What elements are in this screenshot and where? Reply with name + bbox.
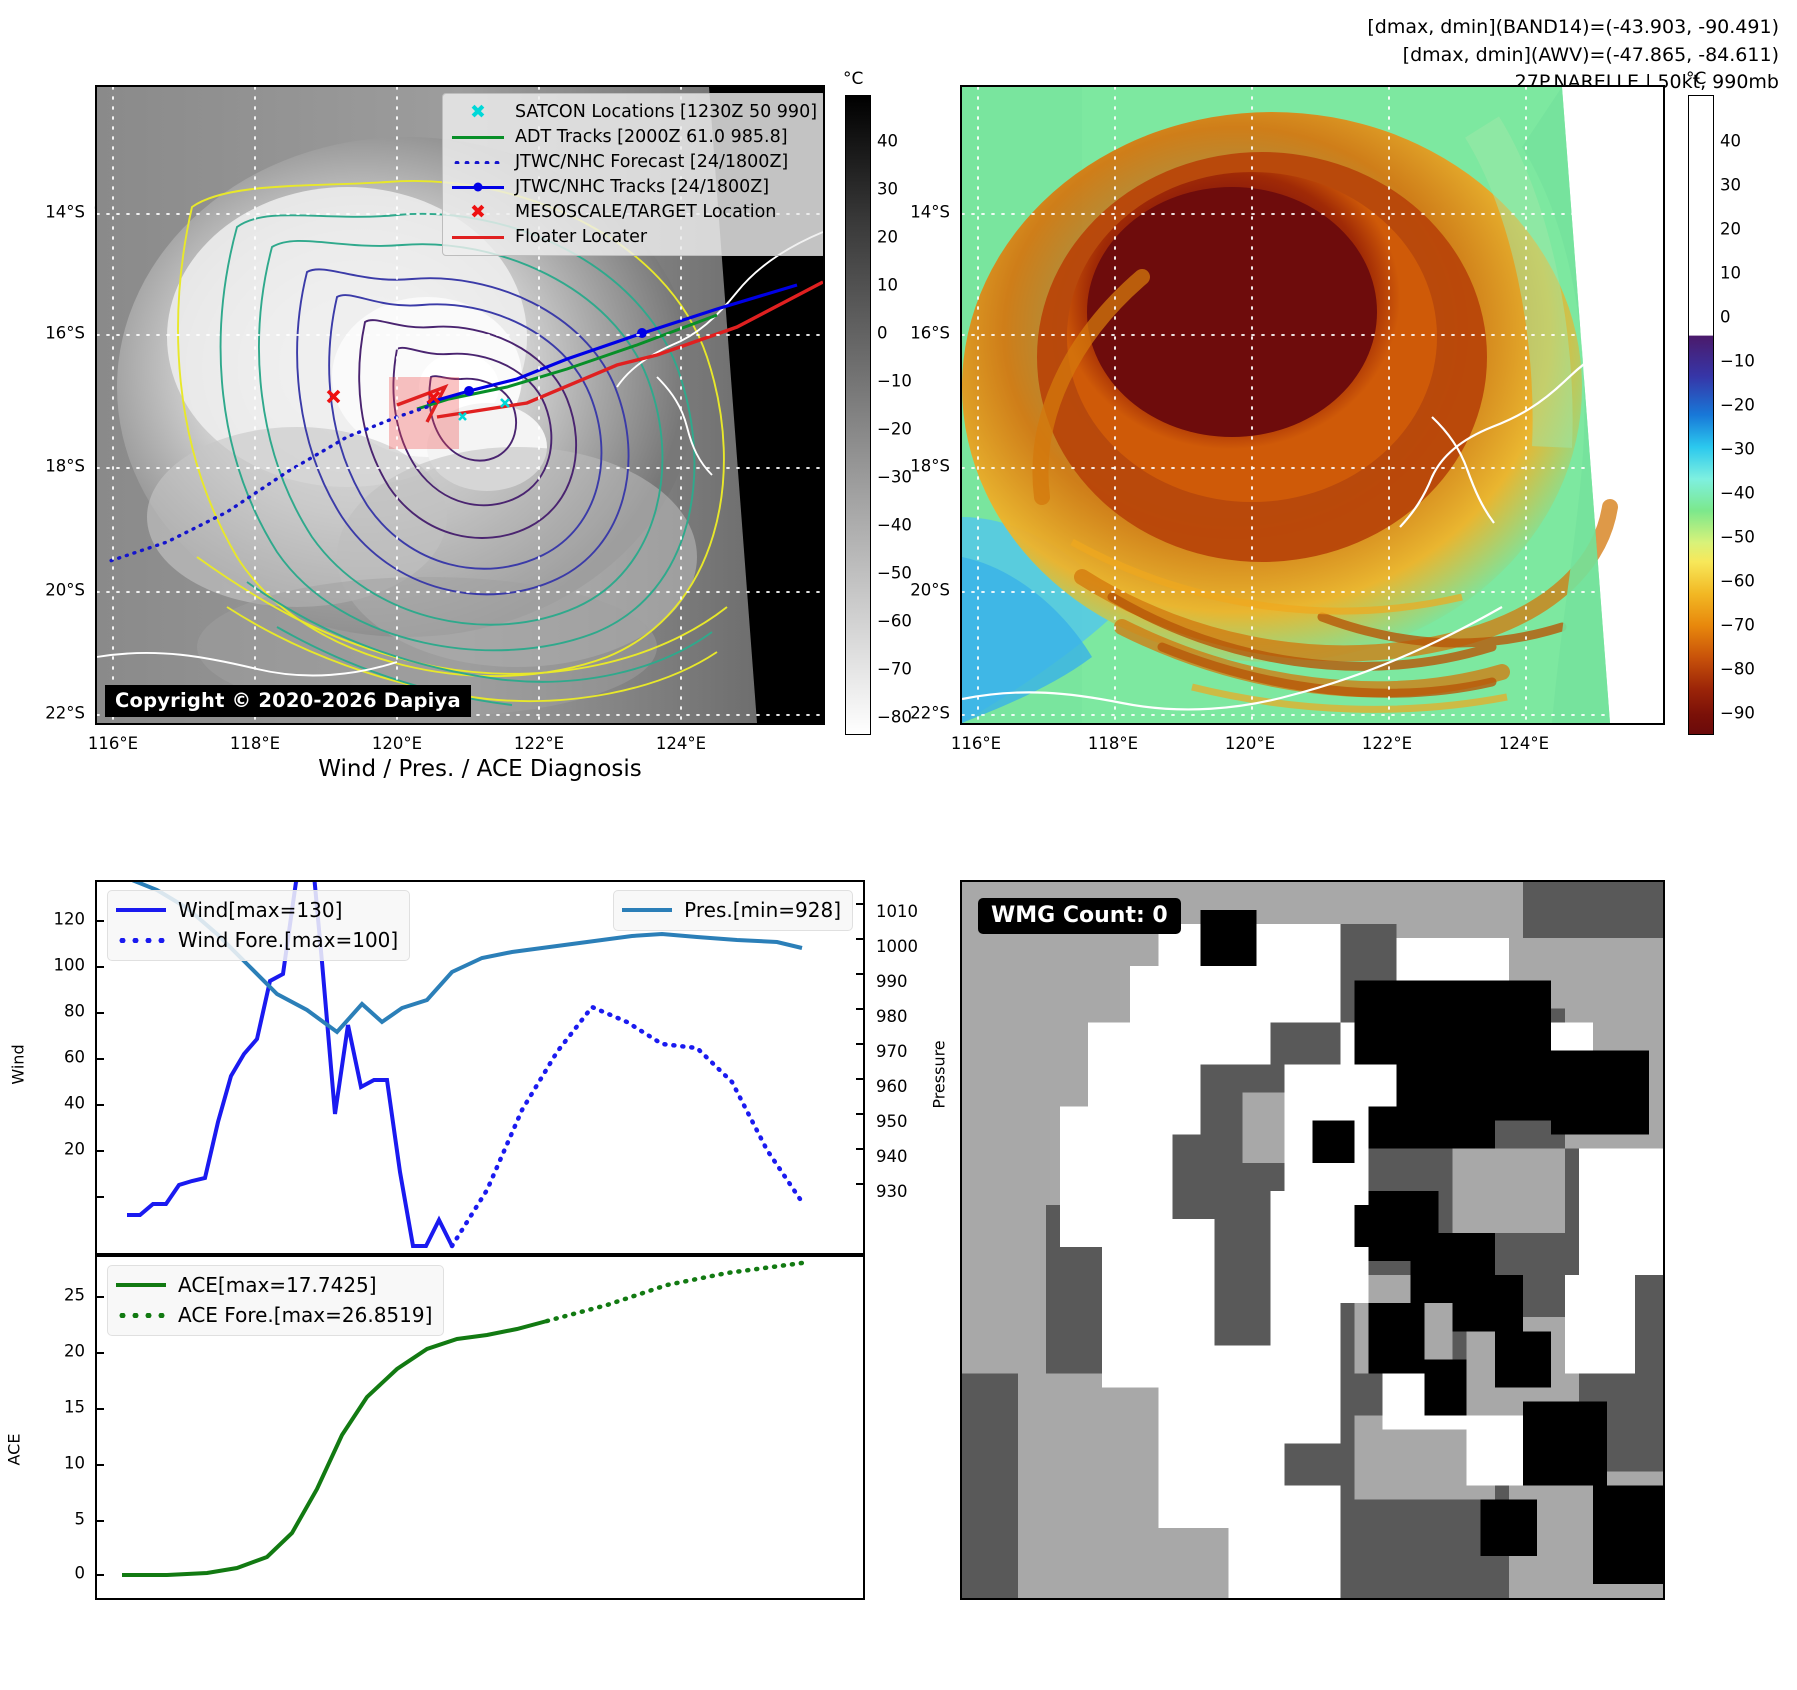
pressure-ytick: 990 — [876, 972, 908, 991]
jtwc-forecast-dotted-icon — [450, 154, 506, 170]
floater-line-icon — [450, 229, 506, 245]
cbar-tick: −10 — [877, 372, 912, 391]
legend-item[interactable]: ACE Fore.[max=26.8519] — [115, 1300, 432, 1330]
awv-lat-tick: 22°S — [875, 704, 950, 723]
awv-lat-tick: 18°S — [875, 457, 950, 476]
cbar-tick: 30 — [1720, 176, 1741, 195]
ace-chart[interactable]: ACE[max=17.7425] ACE Fore.[max=26.8519] — [95, 1255, 865, 1600]
legend-label: SATCON Locations [1230Z 50 990] — [515, 102, 817, 122]
dmax-band14-line: [dmax, dmin](BAND14)=(-43.903, -90.491) — [1367, 14, 1779, 42]
cbar-tick: −20 — [1720, 396, 1755, 415]
wind-ytick: 20 — [15, 1140, 85, 1159]
ace-axis-label: ACE — [4, 1434, 23, 1466]
awv-lat-tick: 20°S — [875, 581, 950, 600]
legend-label: Floater Locater — [515, 227, 647, 247]
pressure-ytick: 940 — [876, 1147, 908, 1166]
cbar-tick: −70 — [1720, 616, 1755, 635]
legend-label: MESOSCALE/TARGET Location — [515, 202, 776, 222]
legend-item[interactable]: JTWC/NHC Forecast [24/1800Z] — [450, 149, 817, 174]
pressure-axis-label: Pressure — [930, 1040, 949, 1108]
cbar-tick: −50 — [1720, 528, 1755, 547]
legend-item[interactable]: Wind Fore.[max=100] — [115, 925, 398, 955]
pressure-ytick: 960 — [876, 1077, 908, 1096]
awv-lat-tick: 16°S — [875, 324, 950, 343]
legend-label: JTWC/NHC Tracks [24/1800Z] — [515, 177, 769, 197]
ir-lat-tick: 14°S — [10, 203, 85, 222]
jtwc-track-line-icon — [450, 179, 506, 195]
awv-lon-tick: 124°E — [1499, 734, 1549, 753]
legend-item[interactable]: JTWC/NHC Tracks [24/1800Z] — [450, 174, 817, 199]
legend-label: Wind Fore.[max=100] — [178, 928, 398, 952]
pressure-ytick: 950 — [876, 1112, 908, 1131]
awv-colorbar[interactable]: °C 40 30 20 10 0 −10 −20 −30 −40 −50 −60… — [1688, 95, 1783, 735]
ir-colorbar-ticks: 40 30 20 10 0 −10 −20 −30 −40 −50 −60 −7… — [877, 95, 937, 735]
ir-lon-tick: 116°E — [88, 734, 138, 753]
ir-lat-tick: 22°S — [10, 704, 85, 723]
ace-line-icon — [115, 1278, 167, 1292]
ir-colorbar[interactable]: °C 40 30 20 10 0 −10 −20 −30 −40 −50 −60… — [845, 95, 935, 735]
ace-ytick: 25 — [15, 1286, 85, 1305]
ace-ytick: 20 — [15, 1342, 85, 1361]
ace-ytick: 10 — [15, 1454, 85, 1473]
legend-label: Pres.[min=928] — [684, 898, 841, 922]
ace-ytick: 5 — [15, 1510, 85, 1529]
pressure-ytick: 980 — [876, 1007, 908, 1026]
wind-forecast-dotted-icon — [115, 933, 167, 947]
cbar-tick: −60 — [1720, 572, 1755, 591]
cbar-tick: −90 — [1720, 704, 1755, 723]
awv-colorbar-gradient — [1688, 95, 1714, 735]
awv-lat-tick: 14°S — [875, 203, 950, 222]
legend-label: Wind[max=130] — [178, 898, 342, 922]
awv-colorbar-ticks: 40 30 20 10 0 −10 −20 −30 −40 −50 −60 −7… — [1720, 95, 1780, 735]
legend-item[interactable]: Pres.[min=928] — [621, 895, 841, 925]
ir-colorbar-gradient — [845, 95, 871, 735]
adt-line-icon — [450, 129, 506, 145]
cbar-tick: −20 — [877, 420, 912, 439]
cbar-tick: 40 — [877, 132, 898, 151]
dmax-awv-line: [dmax, dmin](AWV)=(-47.865, -84.611) — [1367, 42, 1779, 70]
ir-lon-tick: 122°E — [514, 734, 564, 753]
cbar-tick: 0 — [1720, 308, 1731, 327]
ir-colorbar-unit: °C — [843, 69, 863, 89]
ir-lon-tick: 118°E — [230, 734, 280, 753]
ir-satellite-panel[interactable]: ✖ SATCON Locations [1230Z 50 990] ADT Tr… — [95, 85, 825, 725]
cbar-tick: −60 — [877, 612, 912, 631]
awv-lon-tick: 120°E — [1225, 734, 1275, 753]
legend-label: JTWC/NHC Forecast [24/1800Z] — [515, 152, 788, 172]
awv-satellite-panel[interactable] — [960, 85, 1665, 725]
ace-legend[interactable]: ACE[max=17.7425] ACE Fore.[max=26.8519] — [107, 1265, 444, 1336]
ir-lat-tick: 16°S — [10, 324, 85, 343]
wind-legend[interactable]: Wind[max=130] Wind Fore.[max=100] — [107, 890, 410, 961]
ir-lon-tick: 120°E — [372, 734, 422, 753]
cbar-tick: −40 — [1720, 484, 1755, 503]
legend-item[interactable]: Wind[max=130] — [115, 895, 398, 925]
cbar-tick: 10 — [877, 276, 898, 295]
legend-item[interactable]: ✖ SATCON Locations [1230Z 50 990] — [450, 99, 817, 124]
pressure-ytick: 970 — [876, 1042, 908, 1061]
wind-axis-label: Wind — [9, 1044, 28, 1084]
cbar-tick: −40 — [877, 516, 912, 535]
cbar-tick: 30 — [877, 180, 898, 199]
cbar-tick: 10 — [1720, 264, 1741, 283]
mesoscale-marker-icon: ✖ — [450, 204, 506, 220]
ace-ytick: 15 — [15, 1398, 85, 1417]
ir-legend[interactable]: ✖ SATCON Locations [1230Z 50 990] ADT Tr… — [442, 93, 825, 256]
awv-lon-tick: 116°E — [951, 734, 1001, 753]
legend-item[interactable]: ADT Tracks [2000Z 61.0 985.8] — [450, 124, 817, 149]
pressure-line-icon — [621, 903, 673, 917]
wind-pressure-chart[interactable]: Wind[max=130] Wind Fore.[max=100] Pres.[… — [95, 880, 865, 1255]
awv-colorbar-unit: °C — [1686, 69, 1706, 89]
cbar-tick: 40 — [1720, 132, 1741, 151]
legend-label: ADT Tracks [2000Z 61.0 985.8] — [515, 127, 788, 147]
wmg-panel[interactable]: WMG Count: 0 — [960, 880, 1665, 1600]
cbar-tick: −70 — [877, 660, 912, 679]
copyright-badge: Copyright © 2020-2026 Dapiya — [105, 685, 471, 717]
legend-label: ACE[max=17.7425] — [178, 1273, 377, 1297]
cbar-tick: −80 — [1720, 660, 1755, 679]
wind-line-icon — [115, 903, 167, 917]
cbar-tick: 20 — [877, 228, 898, 247]
wind-ytick: 40 — [15, 1094, 85, 1113]
ace-forecast-dotted-icon — [115, 1308, 167, 1322]
wmg-raster — [962, 882, 1663, 1598]
legend-label: ACE Fore.[max=26.8519] — [178, 1303, 432, 1327]
ir-lat-tick: 18°S — [10, 457, 85, 476]
pressure-legend[interactable]: Pres.[min=928] — [613, 890, 853, 931]
pressure-ytick: 1010 — [876, 902, 918, 921]
cbar-tick: −30 — [1720, 440, 1755, 459]
wmg-count-badge: WMG Count: 0 — [978, 898, 1181, 934]
pressure-ytick: 1000 — [876, 937, 918, 956]
charts-section-title: Wind / Pres. / ACE Diagnosis — [95, 756, 865, 782]
awv-lon-tick: 122°E — [1362, 734, 1412, 753]
awv-lon-tick: 118°E — [1088, 734, 1138, 753]
cbar-tick: 20 — [1720, 220, 1741, 239]
wind-ytick: 80 — [15, 1002, 85, 1021]
wind-ytick: 120 — [15, 910, 85, 929]
ir-lon-tick: 124°E — [656, 734, 706, 753]
cbar-tick: −10 — [1720, 352, 1755, 371]
wind-ytick: 100 — [15, 956, 85, 975]
pressure-ytick: 930 — [876, 1182, 908, 1201]
ace-ytick: 0 — [15, 1564, 85, 1583]
legend-item[interactable]: Floater Locater — [450, 224, 817, 249]
legend-item[interactable]: ✖ MESOSCALE/TARGET Location — [450, 199, 817, 224]
satcon-marker-icon: ✖ — [450, 104, 506, 120]
awv-enhanced-image — [962, 87, 1663, 723]
ir-lat-tick: 20°S — [10, 581, 85, 600]
legend-item[interactable]: ACE[max=17.7425] — [115, 1270, 432, 1300]
